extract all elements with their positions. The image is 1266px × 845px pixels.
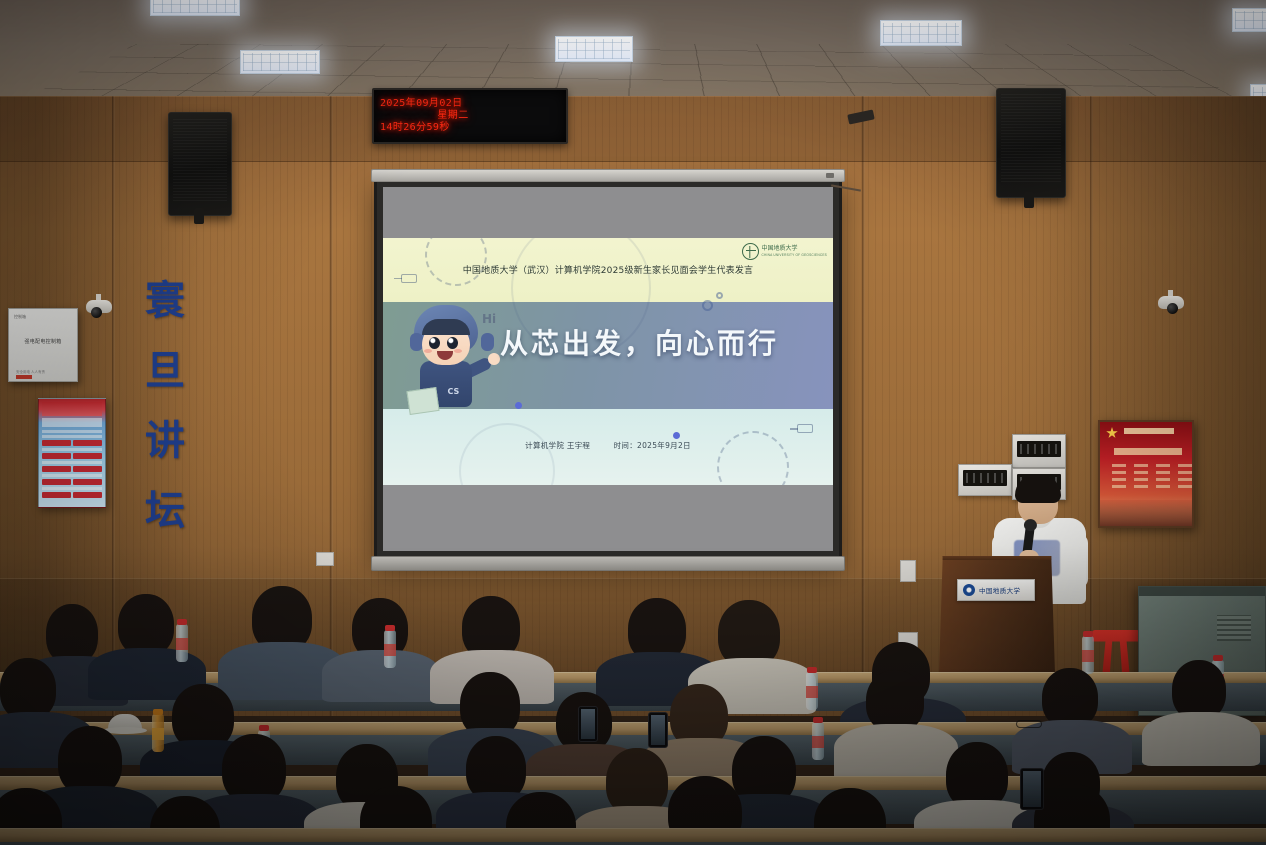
wall-speaker-right	[996, 88, 1066, 198]
fire-safety-poster	[38, 398, 106, 508]
control-box-brand: 控制箱	[14, 314, 72, 320]
audience-head	[1042, 668, 1098, 728]
control-box-warning-badge	[16, 375, 32, 379]
poster-chip	[42, 466, 71, 472]
bottle-label	[152, 728, 164, 740]
slide-header-text: 中国地质大学（武汉）计算机学院2025级新生家长见面会学生代表发言	[383, 263, 833, 276]
mascot-hand	[488, 353, 500, 365]
phone-screen	[581, 709, 595, 739]
poster-chip	[73, 492, 102, 498]
phone-screen	[1023, 771, 1041, 807]
ceiling-light-4	[880, 20, 962, 46]
audience-head	[118, 594, 174, 656]
electrical-panel-upper	[1012, 434, 1066, 468]
poster-chip	[42, 440, 71, 446]
poster-text-line	[42, 474, 102, 477]
poster-text-line	[42, 448, 102, 451]
poster-column	[1134, 464, 1148, 492]
poster-chip	[73, 453, 102, 459]
wall-calligraphy: 寰 旦 讲 坛	[130, 268, 200, 536]
poster-text-columns	[1112, 464, 1192, 492]
ceiling-light-5	[1232, 8, 1266, 32]
poster-content-rows	[42, 430, 102, 498]
mascot-eye-right	[447, 337, 458, 349]
screen-bottom-bar	[371, 556, 845, 571]
mascot-headphone-left	[410, 333, 423, 351]
star-icon	[1106, 427, 1118, 439]
bottle-label	[806, 686, 818, 698]
bottle-cap	[807, 667, 817, 673]
mascot-paper	[406, 387, 439, 415]
mascot-cheek-left	[424, 349, 432, 353]
water-bottle	[812, 722, 824, 760]
bottle-label	[176, 638, 188, 650]
gear-icon	[702, 300, 713, 311]
bottle-cap	[813, 717, 823, 723]
bottle-cap	[385, 625, 395, 631]
wall-speaker-left	[168, 112, 232, 216]
poster-chip	[42, 453, 71, 459]
wall-outlet-mid	[900, 560, 916, 582]
bottle-label	[384, 644, 396, 656]
white-cap	[108, 714, 142, 731]
screen-top-rail	[371, 169, 845, 182]
slide-footer: 计算机学院 王宇程 时间：2025年9月2日	[383, 440, 833, 451]
led-clock-sign: 2025年09月02日 星期二 14时26分59秒	[372, 88, 568, 144]
slide-title-text: 从芯出发，向心而行	[500, 322, 820, 362]
phone-screen	[651, 715, 665, 745]
water-bottle	[806, 672, 818, 710]
screen-roller-knob	[826, 173, 834, 178]
poster-illustration	[1100, 500, 1192, 526]
camera-lens-right	[1167, 303, 1178, 314]
speaker-hair	[1015, 475, 1061, 503]
speaker-bracket-left	[194, 208, 204, 224]
university-emblem-icon	[742, 243, 759, 260]
poster-chip	[42, 479, 71, 485]
poster-header-banner	[42, 402, 102, 416]
poster-column	[1156, 464, 1170, 492]
led-date-line: 2025年09月02日	[380, 98, 463, 110]
audience-shoulders	[322, 650, 440, 702]
juice-bottle	[152, 714, 164, 752]
smartphone[interactable]	[1020, 768, 1044, 810]
lecture-hall-photo: 寰 旦 讲 坛 2025年09月02日 星期二 14时26分59秒 控制箱 强电…	[0, 0, 1266, 845]
speaker-bracket-right	[1024, 192, 1034, 208]
bottle-cap	[177, 619, 187, 625]
smartphone[interactable]	[578, 706, 598, 742]
gear-icon	[716, 292, 723, 299]
electrical-control-box: 控制箱 强电配电控制箱 安全用电 人人有责	[8, 308, 78, 382]
university-logo-text: 中国地质大学	[762, 246, 827, 253]
calligraphy-char-2: 旦	[145, 338, 185, 396]
audience-shoulders	[1142, 712, 1260, 766]
bottle-label	[1082, 650, 1094, 662]
control-box-title: 强电配电控制箱	[14, 338, 72, 345]
screen-canvas: 中国地质大学 CHINA UNIVERSITY OF GEOSCIENCES 中…	[383, 187, 833, 551]
mascot-eye-left	[429, 337, 440, 349]
audience-head	[1172, 660, 1226, 720]
water-bottle	[1082, 636, 1094, 674]
slide-greeting-text: Hi	[482, 312, 496, 326]
bottle-cap	[153, 709, 163, 715]
calligraphy-char-3: 讲	[145, 408, 185, 466]
slide-footer-department: 计算机学院 王宇程	[525, 441, 590, 450]
bottle-cap	[259, 725, 269, 731]
bottle-cap	[1083, 631, 1093, 637]
mascot-badge-label: CS	[448, 387, 460, 396]
poster-text-line	[42, 430, 102, 433]
poster-chip	[42, 492, 71, 498]
ceiling-light-2	[240, 50, 320, 74]
calligraphy-char-4: 坛	[145, 478, 185, 536]
wall-outlet-left	[316, 552, 334, 566]
poster-chip	[73, 466, 102, 472]
poster-chip	[73, 440, 102, 446]
poster-text-line	[42, 487, 102, 490]
bottle-label	[812, 736, 824, 748]
audience-head	[866, 670, 924, 732]
audience-head	[46, 604, 98, 664]
university-logo-subtext: CHINA UNIVERSITY OF GEOSCIENCES	[762, 253, 827, 257]
decor-plug-right	[797, 424, 813, 433]
audience-head	[0, 658, 56, 720]
bottle-cap	[1213, 655, 1223, 661]
poster-column	[1178, 464, 1192, 492]
poster-subtitle-bar	[42, 418, 102, 427]
ceiling-light-1	[150, 0, 240, 16]
poster-column	[1112, 464, 1126, 492]
eyeglasses	[1016, 720, 1042, 728]
slide-footer-date: 时间：2025年9月2日	[614, 441, 691, 450]
led-time-line: 14时26分59秒	[380, 122, 450, 134]
projection-screen: 中国地质大学 CHINA UNIVERSITY OF GEOSCIENCES 中…	[374, 178, 842, 560]
desk-row	[0, 828, 1266, 844]
ceiling-light-3	[555, 36, 633, 62]
water-bottle	[384, 630, 396, 668]
presentation-slide: 中国地质大学 CHINA UNIVERSITY OF GEOSCIENCES 中…	[383, 238, 833, 486]
panel-window	[1017, 441, 1061, 458]
mascot-hair	[422, 319, 470, 335]
poster-text-line	[42, 461, 102, 464]
camera-lens-left	[91, 307, 102, 318]
poster-title-bar	[1124, 428, 1174, 434]
calligraphy-char-1: 寰	[145, 268, 185, 326]
mascot-headphone-right	[481, 333, 494, 351]
poster-text-line	[42, 435, 102, 438]
university-logo: 中国地质大学 CHINA UNIVERSITY OF GEOSCIENCES	[742, 243, 827, 260]
poster-headline-bar	[1114, 448, 1182, 455]
poster-chip	[73, 479, 102, 485]
led-weekday-line: 星期二	[437, 110, 468, 122]
water-bottle	[176, 624, 188, 662]
mascot-cheek-right	[454, 349, 462, 353]
commemoration-poster	[1098, 420, 1194, 528]
audience-area	[0, 580, 1266, 845]
audience-shoulders	[834, 724, 958, 780]
smartphone[interactable]	[648, 712, 668, 748]
